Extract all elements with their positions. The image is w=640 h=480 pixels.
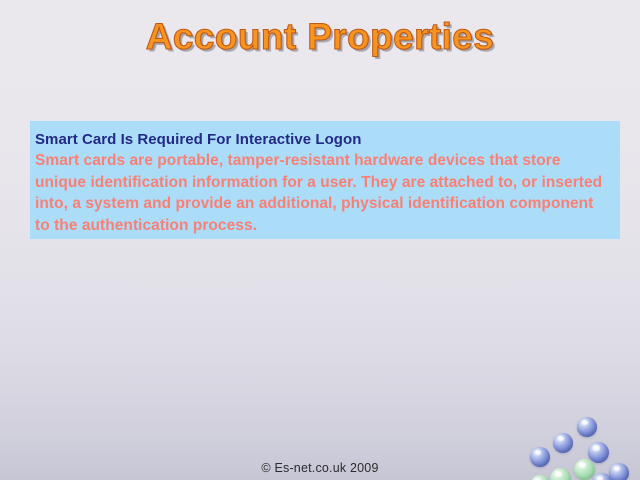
footer-container: © Es-net.co.uk 2009 xyxy=(0,459,640,477)
page-title: Account Properties xyxy=(146,16,495,58)
sphere-blue-2 xyxy=(553,433,573,453)
copyright-footer: © Es-net.co.uk 2009 xyxy=(261,461,378,475)
sphere-blue-1 xyxy=(577,417,597,437)
slide-title-container: Account Properties xyxy=(0,16,640,58)
content-body-text: Smart cards are portable, tamper-resista… xyxy=(35,150,611,236)
content-text-box: Smart Card Is Required For Interactive L… xyxy=(30,121,620,239)
slide-canvas: Account Properties Smart Card Is Require… xyxy=(0,0,640,480)
content-heading: Smart Card Is Required For Interactive L… xyxy=(35,129,611,150)
